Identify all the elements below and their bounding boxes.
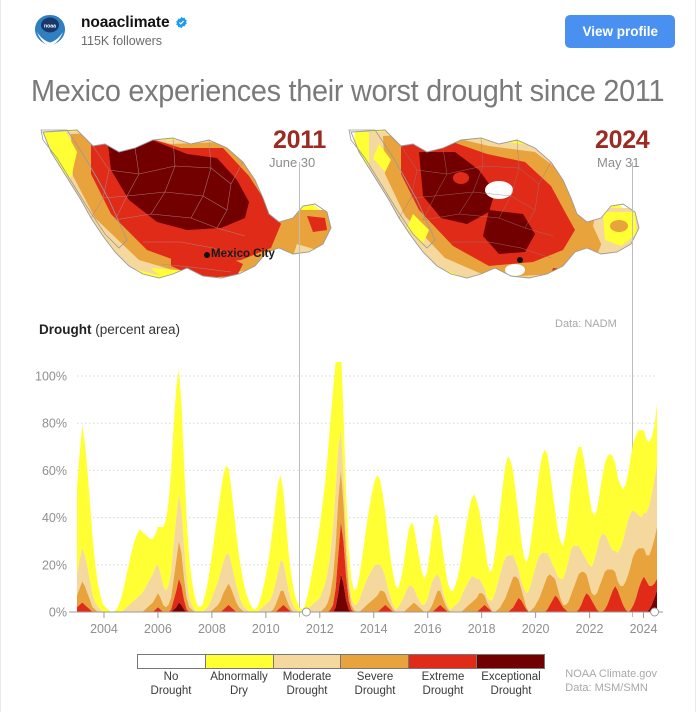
map-year-2011: 2011 [273, 128, 326, 153]
account-info: noaaclimate 115K followers [81, 14, 565, 48]
legend-swatch-4 [408, 655, 476, 668]
x-tick-2018: 2018 [468, 622, 496, 636]
x-tick-2008: 2008 [198, 622, 226, 636]
post-card: noaa noaaclimate 115K followers View pro… [0, 0, 696, 712]
legend-swatch-5 [476, 655, 544, 668]
legend-label-line2: Drought [409, 685, 477, 699]
y-tick-20%: 20% [42, 558, 67, 572]
legend-label-line1: Moderate [273, 671, 341, 685]
legend-label-0: NoDrought [137, 671, 205, 698]
legend-label-line2: Drought [341, 685, 409, 699]
legend-swatch-0 [138, 655, 205, 668]
view-profile-button[interactable]: View profile [565, 15, 675, 48]
legend-label-line1: Severe [341, 671, 409, 685]
chart-heading-bold: Drought [39, 322, 91, 337]
y-tick-100%: 100% [35, 370, 67, 384]
mexico-city-label: Mexico City [211, 248, 275, 260]
legend-label-2: ModerateDrought [273, 671, 341, 698]
x-tick-2012: 2012 [306, 622, 334, 636]
x-tick-2010: 2010 [252, 622, 280, 636]
x-tick-2004: 2004 [90, 622, 118, 636]
chart-heading-rest: (percent area) [91, 322, 180, 337]
map-date-2011: June 30 [269, 156, 315, 169]
axis-marker-2011 [302, 608, 310, 616]
credit-text: NOAA Climate.gov Data: MSM/SMN [565, 668, 657, 695]
svg-text:noaa: noaa [44, 24, 56, 30]
follower-count: 115K followers [81, 34, 565, 48]
post-header: noaa noaaclimate 115K followers View pro… [1, 0, 696, 62]
map-source-label: Data: NADM [555, 318, 617, 330]
account-name[interactable]: noaaclimate [81, 14, 170, 32]
legend-label-5: ExceptionalDrought [477, 671, 545, 698]
x-tick-2014: 2014 [360, 622, 388, 636]
credit-line-1: NOAA Climate.gov [565, 668, 657, 682]
legend-labels: NoDroughtAbnormallyDryModerateDroughtSev… [137, 671, 545, 698]
y-tick-80%: 80% [42, 417, 67, 431]
legend-label-4: ExtremeDrought [409, 671, 477, 698]
drought-area-chart: 0%20%40%60%80%100%2004200620082010201220… [1, 362, 696, 642]
legend-label-line2: Dry [205, 685, 273, 699]
verified-badge-icon [175, 16, 188, 29]
x-tick-2006: 2006 [144, 622, 172, 636]
y-tick-40%: 40% [42, 511, 67, 525]
legend-swatch-3 [340, 655, 408, 668]
legend-swatch-2 [273, 655, 341, 668]
legend-label-line2: Drought [477, 685, 545, 699]
y-tick-60%: 60% [42, 464, 67, 478]
legend-label-1: AbnormallyDry [205, 671, 273, 698]
x-tick-2020: 2020 [522, 622, 550, 636]
credit-line-2: Data: MSM/SMN [565, 682, 657, 696]
map-year-2024: 2024 [595, 128, 649, 153]
mexico-city-marker-2024 [517, 257, 523, 263]
map-2024: 2024 May 31 Data: NADM [339, 118, 649, 318]
legend-label-line1: No [137, 671, 205, 685]
legend-label-line2: Drought [273, 685, 341, 699]
legend-label-line1: Extreme [409, 671, 477, 685]
noaa-logo-icon[interactable]: noaa [31, 12, 69, 50]
legend-label-line1: Abnormally [205, 671, 273, 685]
legend-color-bar [137, 654, 545, 669]
maps-row: 2011 June 30 Mexico City [1, 118, 696, 323]
mexico-city-marker [204, 252, 210, 258]
legend-label-3: SevereDrought [341, 671, 409, 698]
x-tick-2024: 2024 [630, 622, 658, 636]
x-tick-2022: 2022 [576, 622, 604, 636]
y-tick-0%: 0% [49, 606, 67, 620]
map-date-2024: May 31 [597, 156, 640, 169]
legend-label-line2: Drought [137, 685, 205, 699]
legend-label-line1: Exceptional [477, 671, 545, 685]
x-tick-2016: 2016 [414, 622, 442, 636]
legend-swatch-1 [205, 655, 273, 668]
axis-marker-2024 [651, 608, 659, 616]
chart-heading: Drought (percent area) [39, 322, 180, 337]
page-title: Mexico experiences their worst drought s… [31, 74, 626, 108]
chart-svg: 0%20%40%60%80%100%2004200620082010201220… [1, 362, 696, 642]
map-2011: 2011 June 30 Mexico City [31, 118, 341, 318]
